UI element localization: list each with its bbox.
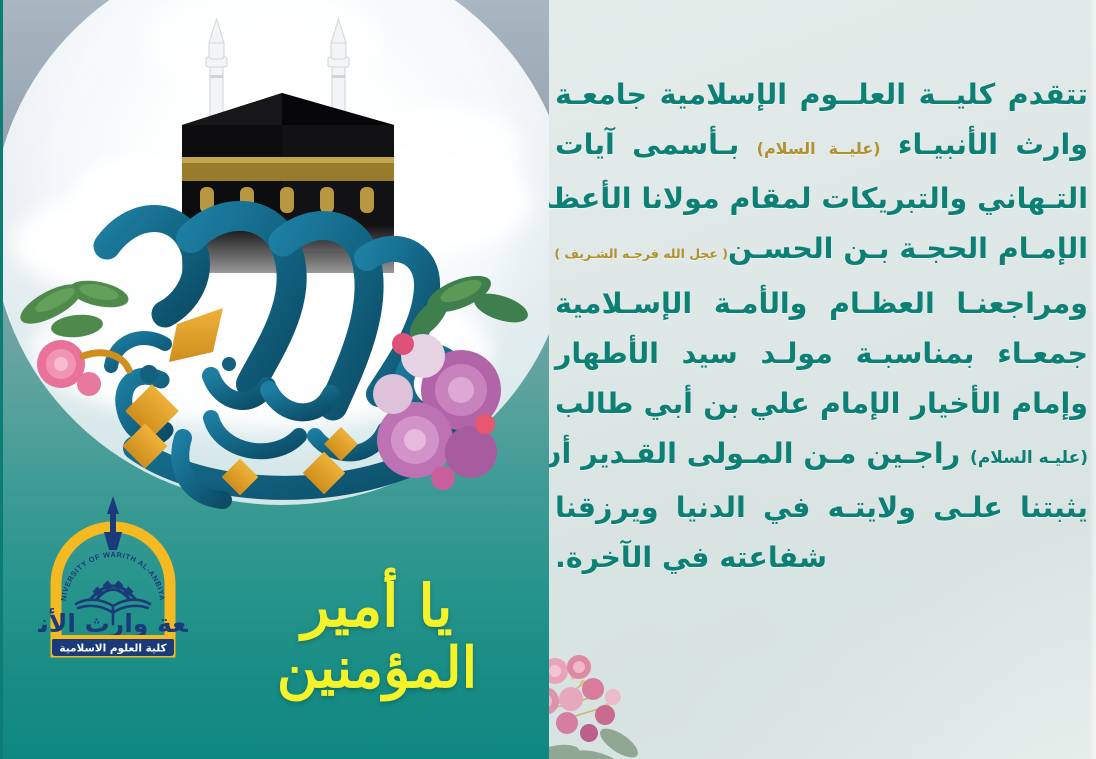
message-line-4: الإمـام الحجـة بـن الحسـن( عجل الله فرجـ… <box>555 224 1088 279</box>
right-flower-cluster <box>373 268 531 490</box>
panel-divider <box>0 0 3 759</box>
message-line-5: ومراجعنـا العظـام والأمـة الإسـلامية <box>555 279 1088 329</box>
message-line-2-part-c: بـأسمى آيات <box>555 128 739 161</box>
message-line-2: وارث الأنبيـاء (عليــة السلام) بـأسمى آي… <box>555 120 1088 174</box>
message-line-1: تتقدم كليــة العلــوم الإسلامية جامعـة <box>555 70 1088 120</box>
yellow-heading-line-2: المؤمنين <box>227 640 527 697</box>
yellow-heading-line-1: يا أمير <box>227 577 527 636</box>
message-line-4-part-a: الإمـام الحجـة بـن الحسـن <box>728 232 1088 265</box>
message-line-9: يثبتنا علـى ولايتـه في الدنيا ويرزقنا <box>555 483 1088 533</box>
honorific-ajjal-allah: ( عجل الله فرجـه الشـريف ) <box>554 246 728 261</box>
yellow-heading: يا أمير المؤمنين <box>227 577 527 697</box>
message-line-2-part-a: وارث الأنبيـاء <box>898 128 1088 161</box>
artwork-panel: UNIVERSITY OF WARITH AL-ANBIYAA <box>0 0 549 759</box>
greeting-message: تتقدم كليــة العلــوم الإسلامية جامعـة و… <box>555 70 1088 583</box>
honorific-alaiha-alsalam: (عليــة السلام) <box>757 139 881 158</box>
honorific-alayhi-alsalam: (عليـه السلام) <box>970 448 1088 468</box>
flower-bouquet-icon <box>549 611 719 759</box>
message-line-3: التـهاني والتبريكات لمقام مولانا الأعظم <box>555 174 1088 224</box>
message-line-8-part-b: راجـين مـن المـولى القـدير أن <box>549 437 960 470</box>
left-flower-cluster <box>15 276 131 396</box>
logo-ribbon-text: كلية العلوم الاسلامية <box>59 643 167 655</box>
message-line-7: وإمام الأخيار الإمام علي بن أبي طالب <box>555 379 1088 429</box>
logo-arabic-name: جامعة وارث الأنبياء <box>38 608 188 639</box>
message-line-10: شفاعته في الآخرة. <box>555 533 1088 583</box>
greeting-card: تتقدم كليــة العلــوم الإسلامية جامعـة و… <box>0 0 1096 759</box>
arabic-calligraphy-artwork <box>15 118 535 538</box>
message-panel: تتقدم كليــة العلــوم الإسلامية جامعـة و… <box>549 0 1096 759</box>
message-line-6: جمعـاء بمناسبـة مولـد سيد الأطهار <box>555 329 1088 379</box>
university-logo: UNIVERSITY OF WARITH AL-ANBIYAA <box>38 492 188 664</box>
message-line-8: (عليـه السلام) راجـين مـن المـولى القـدي… <box>555 429 1088 483</box>
